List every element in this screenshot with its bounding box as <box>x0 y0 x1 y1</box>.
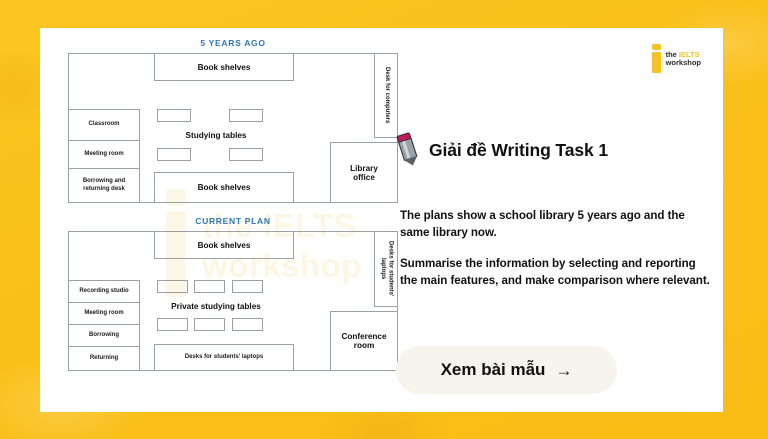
plan-old-top-bookshelves: Book shelves <box>154 53 294 81</box>
plan-new-room-borrowing: Borrowing <box>68 324 140 347</box>
page-title: Giải đề Writing Task 1 <box>429 140 608 161</box>
plan-old-table <box>157 148 191 161</box>
plan-new-center-label: Private studying tables <box>131 302 301 312</box>
plan-new-diagram: Book shelves Desks for students' laptops… <box>68 231 398 371</box>
view-sample-button-label: Xem bài mẫu <box>441 360 546 380</box>
plan-new-room-recording-studio-label: Recording studio <box>79 288 128 296</box>
plan-old-top-bookshelves-label: Book shelves <box>198 63 251 72</box>
logo-i-stem <box>652 52 661 73</box>
plan-old-table <box>229 109 263 122</box>
plan-old-room-meeting-label: Meeting room <box>84 151 123 159</box>
plan-new-conference-room: Conference room <box>330 311 398 371</box>
plan-old-bottom-bookshelves-label: Book shelves <box>198 183 251 192</box>
plan-new-room-meeting: Meeting room <box>68 302 140 325</box>
plan-old-room-classroom: Classroom <box>68 109 140 141</box>
task-prompt-paragraph-2: Summarise the information by selecting a… <box>400 256 712 290</box>
plan-old-library-office-label-1: Library <box>350 164 378 173</box>
plan-old-computer-desk-label: Desk for computers <box>382 67 390 123</box>
title-row: Giải đề Writing Task 1 <box>398 133 608 167</box>
plan-new-top-bookshelves-label: Book shelves <box>198 241 251 250</box>
plan-old-room-borrowing: Borrowing and returning desk <box>68 168 140 203</box>
plan-old-bottom-bookshelves: Book shelves <box>154 172 294 203</box>
logo-text: the IELTS workshop <box>666 51 701 67</box>
plan-old-library-office: Library office <box>330 142 398 203</box>
library-floor-plans: 5 YEARS AGO Book shelves Desk for comput… <box>68 38 398 408</box>
plan-new-room-returning-label: Returning <box>90 355 118 363</box>
pencil-icon <box>393 130 424 169</box>
logo-i-icon <box>651 44 662 73</box>
plan-new-room-recording-studio: Recording studio <box>68 280 140 303</box>
plan-old-room-classroom-label: Classroom <box>88 121 119 129</box>
plan-new-conference-room-label-1: Conference <box>341 332 386 341</box>
content-card: the IELTS workshop 5 YEARS AGO Book shel… <box>40 28 723 412</box>
plan-new-table <box>232 318 263 331</box>
arrow-right-icon: → <box>555 362 572 379</box>
plan-old-room-borrowing-label: Borrowing and returning desk <box>69 178 139 193</box>
plan-old-center-label: Studying tables <box>141 131 291 141</box>
plan-new-conference-room-label-2: room <box>354 341 374 350</box>
plan-new-table <box>194 318 225 331</box>
logo-i-dot <box>652 44 661 50</box>
plan-old-title: 5 YEARS AGO <box>68 38 398 48</box>
plan-new-title: CURRENT PLAN <box>68 216 398 226</box>
plan-new-laptop-desks-box-label: Desks for students' laptops <box>185 354 263 362</box>
plan-old-room-meeting: Meeting room <box>68 140 140 169</box>
task-prompt-paragraph-1: The plans show a school library 5 years … <box>400 208 712 242</box>
plan-old-table <box>229 148 263 161</box>
plan-new-table <box>157 318 188 331</box>
brand-logo: the IELTS workshop <box>651 44 701 73</box>
view-sample-button[interactable]: Xem bài mẫu → <box>396 346 617 394</box>
plan-new-room-meeting-label: Meeting room <box>84 310 123 318</box>
plan-old-library-office-label-2: office <box>353 173 375 182</box>
plan-new-laptop-desks-box: Desks for students' laptops <box>154 344 294 371</box>
logo-line2: workshop <box>666 59 701 67</box>
plan-new-table <box>194 280 225 293</box>
plan-old-table <box>157 109 191 122</box>
plan-new-table <box>157 280 188 293</box>
plan-new-room-borrowing-label: Borrowing <box>89 332 119 340</box>
plan-old-diagram: Book shelves Desk for computers Classroo… <box>68 53 398 203</box>
plan-new-table <box>232 280 263 293</box>
right-content-panel: the IELTS workshop Giải đề Writing Task … <box>390 28 723 412</box>
plan-new-top-bookshelves: Book shelves <box>154 231 294 259</box>
plan-new-room-returning: Returning <box>68 346 140 371</box>
